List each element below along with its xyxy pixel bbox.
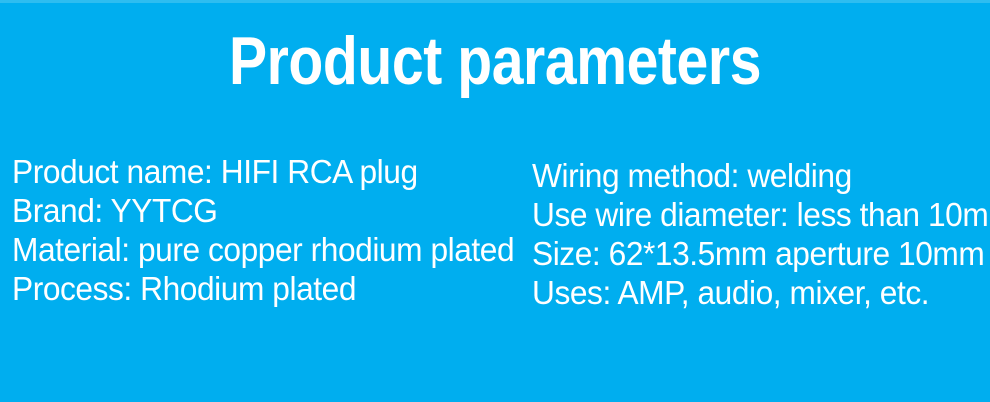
spec-line-material: Material: pure copper rhodium plated	[12, 230, 497, 269]
spec-line-process: Process: Rhodium plated	[12, 269, 497, 308]
spec-line-brand: Brand: YYTCG	[12, 191, 497, 230]
spec-column-left: Product name: HIFI RCA plug Brand: YYTCG…	[12, 152, 517, 308]
spec-line-product-name: Product name: HIFI RCA plug	[12, 152, 497, 191]
spec-line-size: Size: 62*13.5mm aperture 10mm	[532, 234, 970, 273]
top-edge-band	[0, 0, 990, 3]
spec-line-wire-diameter: Use wire diameter: less than 10mm	[532, 195, 970, 234]
spec-line-wiring-method: Wiring method: welding	[532, 156, 970, 195]
product-parameters-banner: Product parameters Product name: HIFI RC…	[0, 0, 990, 402]
page-title: Product parameters	[79, 24, 911, 98]
spec-column-right: Wiring method: welding Use wire diameter…	[532, 156, 988, 312]
specifications-section: Product name: HIFI RCA plug Brand: YYTCG…	[0, 152, 990, 332]
spec-line-uses: Uses: AMP, audio, mixer, etc.	[532, 273, 970, 312]
